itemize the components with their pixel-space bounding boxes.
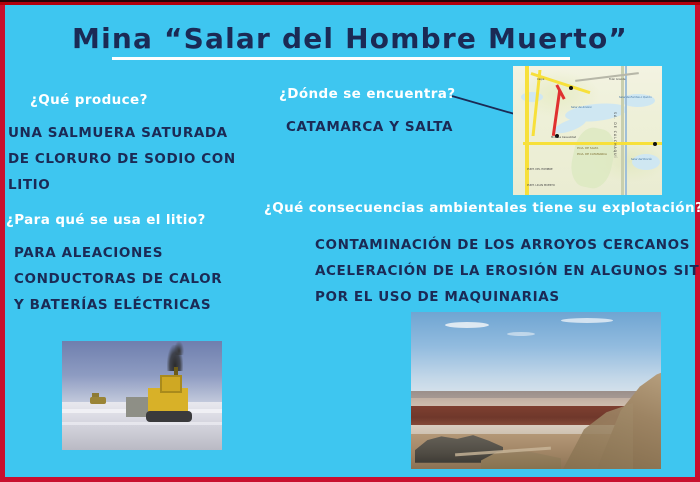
- map-label-mina-casualidad: Mina La Casualidad: [551, 136, 576, 139]
- photo-desert-landscape: [411, 312, 661, 469]
- question-consecuencias-ambientales: ¿Qué consecuencias ambientales tiene su …: [264, 200, 700, 216]
- question-para-que-se-usa: ¿Para qué se usa el litio?: [6, 212, 206, 228]
- photo-cloud: [445, 322, 489, 328]
- presentation-slide: Mina “Salar del Hombre Muerto” ¿Qué prod…: [0, 0, 700, 482]
- map-river: [625, 66, 627, 195]
- map-label-tolar-grande: Tolar Grande: [609, 78, 625, 81]
- map-label-pcia-salta: PCIA. DE SALTA: [577, 146, 598, 150]
- photo-bulldozer-cab: [160, 375, 182, 393]
- photo-distant-machine: [90, 397, 106, 404]
- answer-line: PARA ALEACIONES: [14, 240, 222, 266]
- answer-line: POR EL USO DE MAQUINARIAS: [315, 284, 700, 310]
- title-underline: [112, 57, 570, 60]
- map-label-salar-rincon: Salar del Rincón: [631, 158, 652, 161]
- map-label-lican-muerto: PUNT. LICAN MUERTO: [527, 184, 555, 187]
- map-label-salar-arizaro: Salar de Arizaro: [571, 106, 592, 109]
- photo-sky: [62, 341, 222, 404]
- answer-consecuencias-ambientales: CONTAMINACIÓN DE LOS ARROYOS CERCANOS AC…: [315, 232, 700, 310]
- answer-line: Y BATERÍAS ELÉCTRICAS: [14, 292, 222, 318]
- map-label-salar-pocitos: Salar de Pocitos o Quirón: [619, 96, 652, 99]
- photo-salt-ridge: [62, 422, 222, 425]
- answer-line: DE CLORURO DE SODIO CON: [8, 146, 236, 172]
- frame-border-bottom: [0, 477, 700, 482]
- map-label-tolar: Caipe: [537, 78, 544, 81]
- answer-para-que-se-usa: PARA ALEACIONES CONDUCTORAS DE CALOR Y B…: [14, 240, 222, 318]
- map-secondary-road: [621, 66, 624, 195]
- answer-que-produce: UNA SALMUERA SATURADA DE CLORURO DE SODI…: [8, 120, 236, 198]
- map-label-pcia-catamarca: PCIA. DE CATAMARCA: [577, 152, 607, 156]
- map-highway: [523, 142, 662, 145]
- answer-line: ACELERACIÓN DE LA EROSIÓN EN ALGUNOS SIT…: [315, 258, 700, 284]
- map-town-dot: [653, 142, 657, 146]
- answer-line: CONTAMINACIÓN DE LOS ARROYOS CERCANOS: [315, 232, 700, 258]
- frame-border-top-shadow: [0, 0, 700, 2]
- answer-donde-se-encuentra: CATAMARCA Y SALTA: [286, 114, 453, 140]
- photo-bulldozer-on-salar: [62, 341, 222, 450]
- frame-border-left: [0, 0, 5, 482]
- map-highway: [525, 66, 529, 195]
- question-donde-se-encuentra: ¿Dónde se encuentra?: [279, 86, 456, 102]
- answer-line: CONDUCTORAS DE CALOR: [14, 266, 222, 292]
- photo-cloud: [561, 318, 613, 323]
- answer-line: CATAMARCA Y SALTA: [286, 114, 453, 140]
- question-que-produce: ¿Qué produce?: [30, 92, 148, 108]
- map-label-punt-hombre: PUNT. DEL HOMBRE: [527, 168, 553, 171]
- map-salt-flat: [632, 154, 660, 170]
- map-town-dot: [569, 86, 573, 90]
- answer-line: LITIO: [8, 172, 236, 198]
- slide-title: Mina “Salar del Hombre Muerto”: [0, 22, 700, 55]
- location-map-image: Caipe Tolar Grande Mina La Casualidad Sa…: [513, 66, 662, 195]
- answer-line: UNA SALMUERA SATURADA: [8, 120, 236, 146]
- photo-bulldozer-track: [146, 411, 192, 422]
- photo-cloud: [507, 332, 535, 336]
- map-label-sierra-calchaqui: SA. DE CALCHAQUÍ: [613, 112, 617, 158]
- photo-exhaust-smoke: [174, 341, 184, 355]
